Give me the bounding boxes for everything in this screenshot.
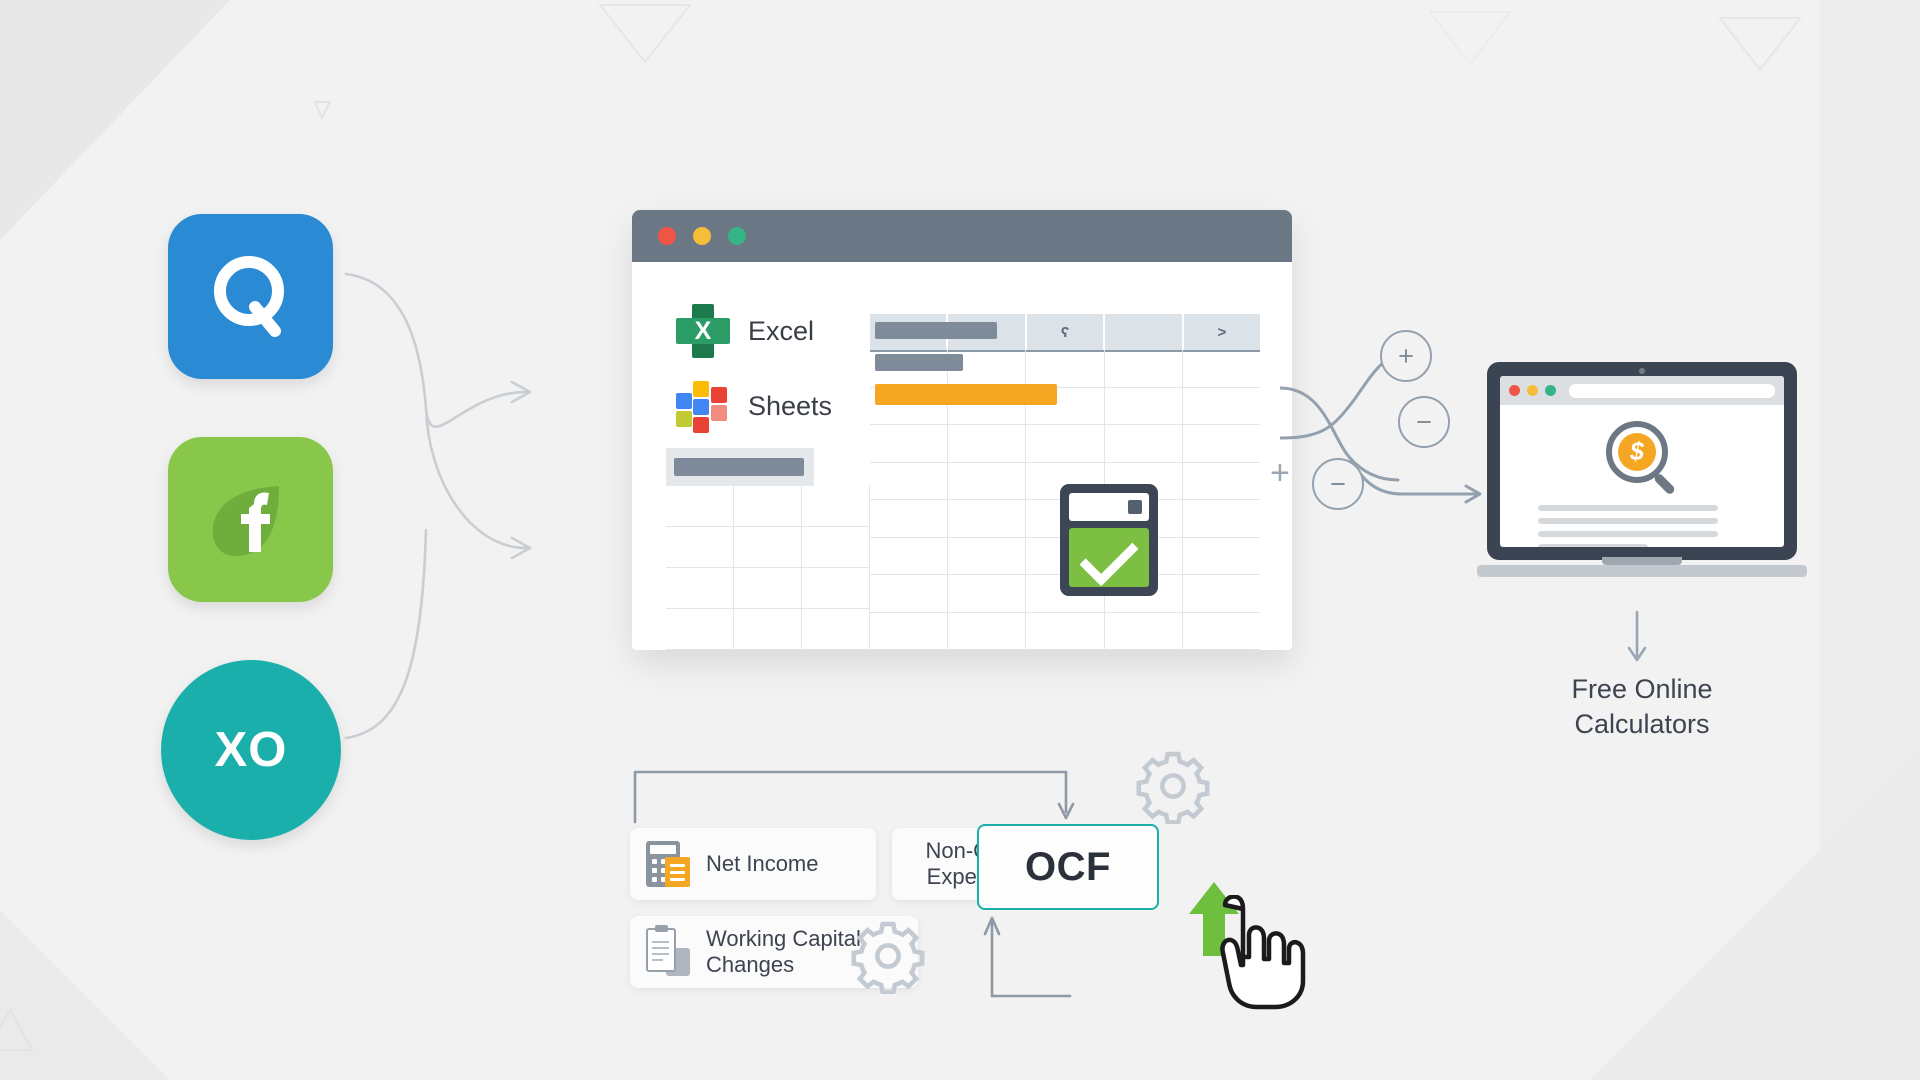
- bg-corner-triangle-left: [0, 0, 230, 240]
- xero-label: XO: [215, 722, 288, 778]
- gear-icon-bottom-left: [850, 918, 926, 994]
- window-close-button[interactable]: [658, 227, 676, 245]
- working-capital-line2: Changes: [706, 952, 794, 977]
- laptop-base: [1477, 565, 1807, 577]
- calculator-screen: [1069, 528, 1149, 587]
- source-app-freshbooks[interactable]: [168, 437, 333, 602]
- net-income-card[interactable]: Net Income: [630, 828, 876, 900]
- check-icon: [1079, 527, 1138, 586]
- gear-icon-top-right: [1135, 748, 1211, 824]
- browser-maximize-dot[interactable]: [1545, 385, 1556, 396]
- bg-corner-triangle-bottom-left: [0, 910, 170, 1080]
- sheets-row[interactable]: Sheets: [676, 379, 832, 433]
- laptop-camera-icon: [1639, 368, 1645, 374]
- laptop-screen: $: [1500, 376, 1784, 547]
- calculator-document-icon: [646, 841, 690, 887]
- down-arrow-icon: [1625, 610, 1649, 666]
- spreadsheet-grid[interactable]: ✦ ʕ >: [870, 314, 1260, 650]
- source-app-xero[interactable]: XO: [161, 660, 341, 840]
- minus-circle-upper[interactable]: −: [1398, 396, 1450, 448]
- output-label-line1: Free Online: [1477, 672, 1807, 707]
- laptop-illustration: $: [1477, 362, 1807, 577]
- source-flow-connectors: [330, 230, 660, 750]
- plus-circle[interactable]: +: [1380, 330, 1432, 382]
- page-text-line: [1538, 505, 1718, 511]
- spreadsheet-window[interactable]: X Excel Sheets: [632, 210, 1292, 650]
- grid-header-cell-4[interactable]: [1105, 314, 1183, 350]
- window-maximize-button[interactable]: [728, 227, 746, 245]
- magnifier-dollar-icon: $: [1606, 421, 1678, 493]
- clipboard-icon: [646, 928, 690, 976]
- output-label-line2: Calculators: [1477, 707, 1807, 742]
- working-capital-line1: Working Capital: [706, 926, 861, 951]
- excel-icon: X: [676, 304, 730, 358]
- net-income-label: Net Income: [706, 851, 819, 877]
- page-text-line: [1538, 531, 1718, 537]
- quickbooks-q-icon: [203, 249, 299, 345]
- minus-circle-lower[interactable]: −: [1312, 458, 1364, 510]
- working-capital-label: Working Capital Changes: [706, 926, 861, 979]
- excel-label: Excel: [748, 316, 814, 347]
- grid-header-cell-3[interactable]: ʕ: [1027, 314, 1105, 350]
- left-gray-bar: [674, 458, 804, 476]
- browser-close-dot[interactable]: [1509, 385, 1520, 396]
- calculator-display: [1069, 493, 1149, 521]
- sheets-label: Sheets: [748, 391, 832, 422]
- dollar-coin-glyph: $: [1618, 433, 1656, 471]
- operator-network: + − − +: [1280, 330, 1490, 530]
- browser-url-input[interactable]: [1569, 384, 1775, 398]
- page-text-line: [1538, 544, 1648, 547]
- laptop-lid: $: [1487, 362, 1797, 560]
- hand-cursor-icon: [1195, 895, 1315, 1010]
- infographic-canvas: XO X Excel: [0, 0, 1920, 1080]
- google-sheets-icon: [676, 379, 730, 433]
- browser-chrome-bar: [1500, 376, 1784, 405]
- ocf-result-label: OCF: [1025, 845, 1111, 890]
- source-app-quickbooks[interactable]: [168, 214, 333, 379]
- freshbooks-leaf-f-icon: [191, 460, 311, 580]
- excel-x-glyph: X: [676, 304, 730, 358]
- output-label: Free Online Calculators: [1477, 672, 1807, 741]
- browser-page-content: $: [1500, 405, 1784, 547]
- browser-minimize-dot[interactable]: [1527, 385, 1538, 396]
- ocf-result-box[interactable]: OCF: [977, 824, 1159, 910]
- grid-header-cell-5[interactable]: >: [1184, 314, 1260, 350]
- laptop-hinge: [1602, 557, 1682, 565]
- excel-row[interactable]: X Excel: [676, 304, 814, 358]
- window-minimize-button[interactable]: [693, 227, 711, 245]
- window-titlebar: [632, 210, 1292, 262]
- page-text-line: [1538, 518, 1718, 524]
- grid-bar-gray-2: [875, 354, 963, 371]
- grid-bar-orange: [875, 384, 1057, 405]
- lower-grid: [666, 486, 870, 650]
- bg-corner-triangle-bottom-right: [1590, 750, 1920, 1080]
- window-body: X Excel Sheets: [632, 262, 1292, 650]
- calculator-check-icon: [1060, 484, 1158, 596]
- grid-bar-gray-1: [875, 322, 997, 339]
- plus-symbol-loose: +: [1270, 456, 1290, 490]
